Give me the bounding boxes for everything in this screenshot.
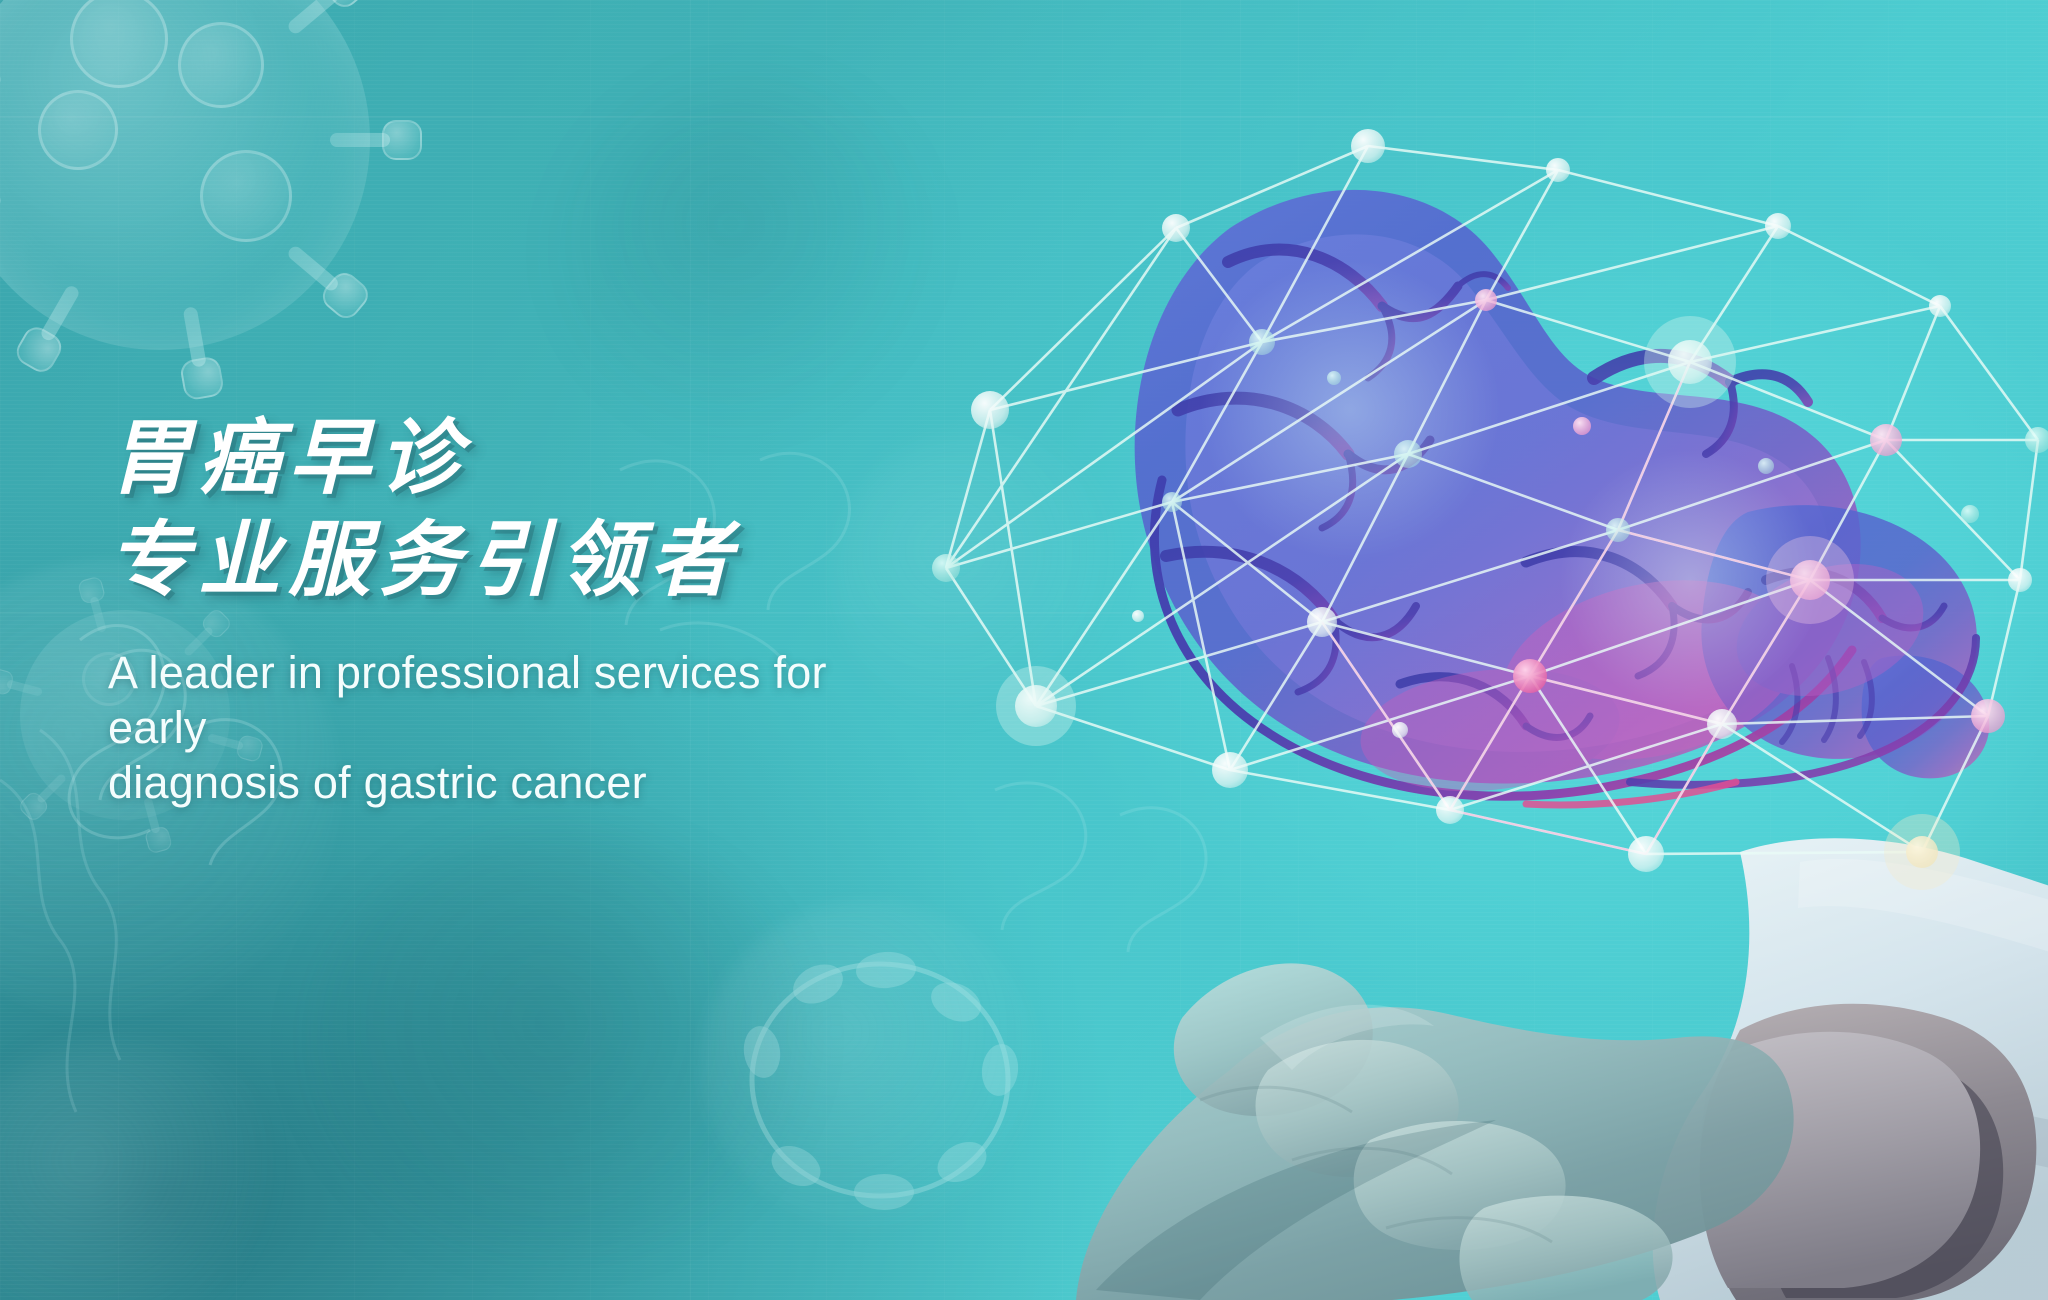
sleeve-cuff [1706,1004,2037,1300]
mesh-node [1436,796,1464,824]
mesh-node [1765,213,1791,239]
virus-surface-ring [178,22,264,108]
mesh-node [2008,568,2032,592]
stomach-rim [1154,480,1852,796]
mesh-node [1870,424,1902,456]
finger-little [1460,1196,1673,1300]
stomach-vasculature [1166,250,1944,738]
stomach-rim-lower [1630,638,1976,785]
subheadline-en-line-2: diagnosis of gastric cancer [108,756,938,811]
mesh-node [1307,607,1337,637]
cell-bokeh-4 [560,80,940,440]
organ-glow [1200,260,1500,560]
subheadline-en-line-1: A leader in professional services for ea… [108,646,938,756]
mesh-node [1212,752,1248,788]
stomach-magenta-tint [1354,541,1940,803]
mesh-node [1628,836,1664,872]
mesh-node [1249,329,1275,355]
mesh-node [1606,518,1630,542]
background-scan-band-top [0,116,2048,118]
mesh-node [1351,129,1385,163]
mesh-node [1668,340,1712,384]
palm [1076,1007,1794,1300]
hero-banner: 胃癌早诊 专业服务引领者 A leader in professional se… [0,0,2048,1300]
cell-bokeh-3 [700,900,1040,1230]
mesh-node [1929,295,1951,317]
mesh-node [1327,371,1341,385]
cell-cluster [700,930,1060,1230]
headline-cn-line-1: 胃癌早诊 [108,418,1108,500]
mesh-node [1971,699,2005,733]
virus-particle-large [0,0,370,350]
headline-cn-line-2: 专业服务引领者 [108,520,1108,602]
virus-surface-ring [200,150,292,242]
hand-shading [1200,1087,1552,1242]
stomach-body [1135,190,1990,784]
lab-coat-sleeve [1653,838,2048,1300]
cell-bokeh-2 [300,830,820,1260]
network-mesh-lines-accent [1322,362,1810,854]
mesh-node [1513,659,1547,693]
mesh-node-halos [996,316,1960,890]
mesh-node [1475,289,1497,311]
hand-shadow [1096,1120,1496,1300]
finger-middle [1256,1040,1459,1177]
mesh-node [1394,440,1422,468]
mesh-node [1961,505,1979,523]
virus-body [0,0,370,350]
copy-block: 胃癌早诊 专业服务引领者 A leader in professional se… [108,418,1108,811]
organ-glow [1560,450,1820,710]
stomach-rim-magenta [1526,782,1736,805]
cuff-inner-shadow [1760,1052,2003,1298]
forearm [1700,1032,1980,1288]
finger-ring [1354,1121,1566,1250]
mesh-node [1906,836,1938,868]
mesh-node [1546,158,1570,182]
mesh-node [1707,709,1737,739]
mesh-node [1162,492,1182,512]
mesh-node [1392,722,1408,738]
sleeve-fold [1798,859,2048,952]
mesh-node [1790,560,1830,600]
virus-surface-ring [38,90,118,170]
mesh-node [1758,458,1774,474]
mesh-node [1162,214,1190,242]
finger-index [1174,963,1373,1116]
network-mesh-lines [946,146,2038,854]
mesh-node [1132,610,1144,622]
mesh-node [2025,427,2048,453]
sleeve-fold [1700,1080,2048,1168]
pyloric-folds [1782,658,1872,742]
cell-bokeh-6 [0,1040,300,1300]
palm-highlight [1260,1005,1434,1070]
virus-surface-ring [70,0,168,88]
mesh-node [1573,417,1591,435]
subheadline-en: A leader in professional services for ea… [108,646,938,811]
